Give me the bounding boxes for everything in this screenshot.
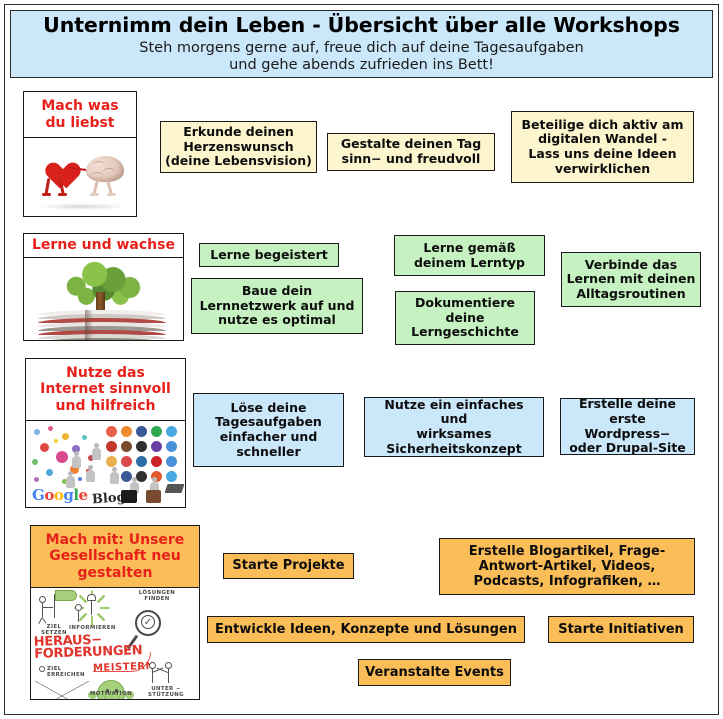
- workshop-box[interactable]: Starte Projekte: [223, 553, 354, 579]
- workshop-box[interactable]: Löse deine Tagesaufgaben einfacher und s…: [193, 393, 344, 467]
- workshop-box[interactable]: Gestalte deinen Tag sinn− und freudvoll: [327, 133, 495, 171]
- tree-on-book-icon: [24, 258, 183, 340]
- sketchnote-label-ziel-erreichen: ZIEL ERREICHEN: [47, 666, 81, 678]
- workshop-box[interactable]: Veranstalte Events: [358, 659, 511, 686]
- workshop-box[interactable]: Starte Initiativen: [548, 616, 694, 643]
- sketchnote-label-loesungen-finden: LÖSUNGEN FINDEN: [135, 590, 179, 602]
- category-card-mach-was-du-liebst[interactable]: Mach was du liebst: [23, 91, 137, 217]
- category-card-lerne-und-wachse[interactable]: Lerne und wachse: [23, 233, 184, 341]
- category-card-mach-mit[interactable]: Mach mit: Unsere Gesellschaft neu gestal…: [30, 525, 200, 700]
- google-logo-text: Google: [32, 486, 88, 504]
- poster-header: Unternimm dein Leben - Übersicht über al…: [10, 10, 713, 78]
- category-title-lerne-und-wachse: Lerne und wachse: [24, 234, 183, 258]
- workshop-box[interactable]: Erstelle deine erste Wordpress− oder Dru…: [560, 398, 695, 455]
- sketchnote-label-unterstuetzung: UNTER − STÜTZUNG: [143, 686, 189, 698]
- page-subtitle: Steh morgens gerne auf, freue dich auf d…: [139, 40, 583, 75]
- heart-and-brain-icon: [24, 138, 136, 216]
- workshop-box[interactable]: Dokumentiere deine Lerngeschichte: [395, 291, 535, 345]
- workshop-box[interactable]: Lerne begeistert: [199, 243, 339, 267]
- workshop-box[interactable]: Lerne gemäß deinem Lerntyp: [394, 235, 545, 276]
- sketchnote-main-title: HERAUS− FORDERUNGEN: [34, 633, 143, 661]
- workshop-box[interactable]: Nutze ein einfaches und wirksames Sicher…: [364, 397, 544, 457]
- category-title-mach-mit: Mach mit: Unsere Gesellschaft neu gestal…: [31, 526, 199, 588]
- poster-canvas: Unternimm dein Leben - Übersicht über al…: [4, 4, 719, 715]
- workshop-box[interactable]: Beteilige dich aktiv am digitalen Wandel…: [511, 111, 694, 183]
- workshop-box[interactable]: Entwickle Ideen, Konzepte und Lösungen: [207, 616, 525, 643]
- category-title-nutze-das-internet: Nutze das Internet sinnvoll und hilfreic…: [26, 359, 185, 421]
- sketchnote-icon: ZIEL SETZEN INFORMIEREN LÖSUNGEN FINDEN …: [31, 588, 199, 699]
- sketchnote-subtitle: MEISTERN: [93, 661, 155, 674]
- workshop-box[interactable]: Verbinde das Lernen mit deinen Alltagsro…: [561, 252, 701, 307]
- sketchnote-label-informieren: INFORMIEREN: [69, 625, 113, 631]
- book-pages: [38, 310, 166, 340]
- page-title: Unternimm dein Leben - Übersicht über al…: [43, 15, 680, 37]
- workshop-box[interactable]: Erstelle Blogartikel, Frage- Antwort-Art…: [439, 538, 695, 595]
- workshop-box[interactable]: Erkunde deinen Herzenswunsch (deine Lebe…: [160, 121, 317, 173]
- category-title-mach-was-du-liebst: Mach was du liebst: [24, 92, 136, 138]
- sketchnote-label-motivation: MOTIVATION: [87, 691, 135, 697]
- social-network-icon: Google Blogs: [26, 421, 185, 507]
- category-card-nutze-das-internet[interactable]: Nutze das Internet sinnvoll und hilfreic…: [25, 358, 186, 508]
- workshop-box[interactable]: Baue dein Lernnetzwerk auf und nutze es …: [191, 278, 363, 334]
